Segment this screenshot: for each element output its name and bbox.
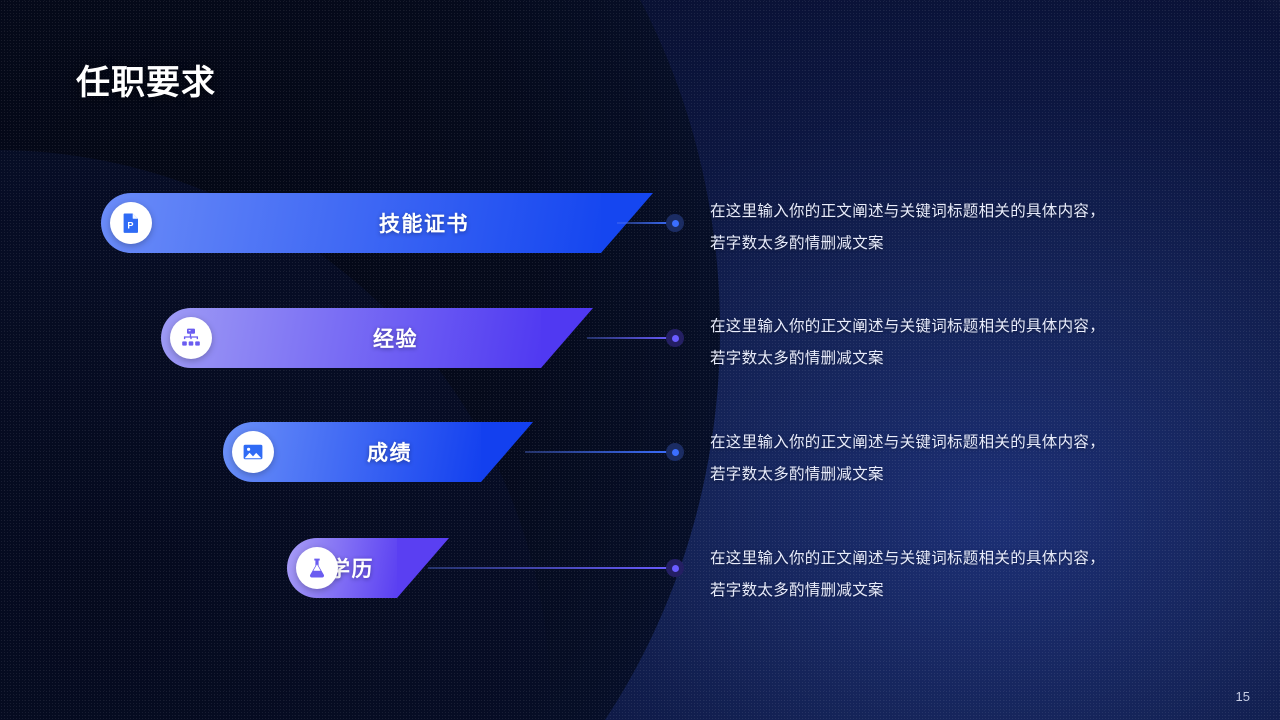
- connector-line: [587, 337, 675, 339]
- banner-body: 经验: [161, 308, 541, 368]
- slide-canvas: 任职要求 技能证书P经验成绩学历 15 在这里输入你的正文阐述与关键词标题相关的…: [0, 0, 1280, 720]
- requirement-banner-3[interactable]: 成绩: [223, 422, 481, 482]
- sitemap-icon: [170, 317, 212, 359]
- description-line-2: 若字数太多酌情删减文案: [710, 575, 1188, 607]
- requirement-description-3: 在这里输入你的正文阐述与关键词标题相关的具体内容，若字数太多酌情删减文案: [710, 427, 1188, 491]
- connector-dot: [666, 559, 684, 577]
- connector-dot-core: [672, 449, 679, 456]
- connector-line: [525, 451, 675, 453]
- connector-dot-core: [672, 220, 679, 227]
- description-line-2: 若字数太多酌情删减文案: [710, 343, 1188, 375]
- requirement-banner-1[interactable]: 技能证书P: [101, 193, 601, 253]
- requirement-description-1: 在这里输入你的正文阐述与关键词标题相关的具体内容，若字数太多酌情删减文案: [710, 196, 1188, 260]
- description-line-1: 在这里输入你的正文阐述与关键词标题相关的具体内容，: [710, 427, 1188, 459]
- banner-label: 成绩: [367, 437, 412, 467]
- connector-dot: [666, 443, 684, 461]
- banner-body: 技能证书: [101, 193, 601, 253]
- connector-dot-core: [672, 565, 679, 572]
- connector-dot: [666, 214, 684, 232]
- requirement-description-2: 在这里输入你的正文阐述与关键词标题相关的具体内容，若字数太多酌情删减文案: [710, 311, 1188, 375]
- banner-label: 技能证书: [379, 208, 469, 238]
- description-line-1: 在这里输入你的正文阐述与关键词标题相关的具体内容，: [710, 543, 1188, 575]
- requirement-banner-2[interactable]: 经验: [161, 308, 541, 368]
- document-p-icon: P: [110, 202, 152, 244]
- description-line-2: 若字数太多酌情删减文案: [710, 228, 1188, 260]
- banner-slanted-tail: [541, 308, 593, 368]
- svg-text:P: P: [127, 221, 133, 231]
- page-number: 15: [1236, 689, 1250, 704]
- description-line-2: 若字数太多酌情删减文案: [710, 459, 1188, 491]
- requirement-description-4: 在这里输入你的正文阐述与关键词标题相关的具体内容，若字数太多酌情删减文案: [710, 543, 1188, 607]
- image-icon: [232, 431, 274, 473]
- requirement-banner-4[interactable]: 学历: [287, 538, 397, 598]
- description-line-1: 在这里输入你的正文阐述与关键词标题相关的具体内容，: [710, 311, 1188, 343]
- banner-label: 经验: [373, 323, 418, 353]
- flask-icon: [296, 547, 338, 589]
- connector-dot: [666, 329, 684, 347]
- connector-dot-core: [672, 335, 679, 342]
- description-line-1: 在这里输入你的正文阐述与关键词标题相关的具体内容，: [710, 196, 1188, 228]
- connector-line: [428, 567, 675, 569]
